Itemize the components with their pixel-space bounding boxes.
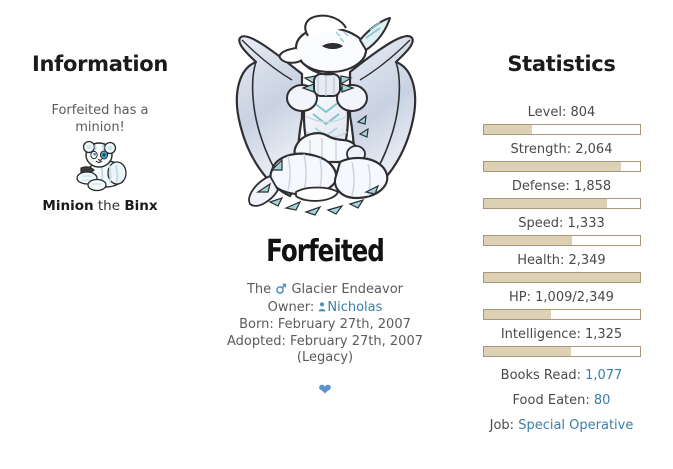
books-read-row: Books Read: 1,077: [450, 363, 673, 388]
heart-row: ❤: [200, 380, 450, 399]
stat-extras: Books Read: 1,077 Food Eaten: 80 Job: Sp…: [450, 363, 673, 438]
born-date: February 27th, 2007: [278, 317, 411, 332]
minion-plushie-icon[interactable]: [65, 140, 135, 192]
stat-label: Level: 804: [450, 104, 673, 122]
books-read-label: Books Read:: [501, 368, 581, 383]
books-read-value[interactable]: 1,077: [585, 368, 622, 383]
page-title: Forfeited: [223, 234, 428, 269]
food-eaten-value[interactable]: 80: [594, 393, 611, 408]
minion-name[interactable]: Minion: [42, 198, 93, 214]
stat-label: Defense: 1,858: [450, 178, 673, 196]
stat-row: Defense: 1,858: [450, 178, 673, 209]
job-label: Job:: [490, 418, 514, 433]
pet-born-line: Born: February 27th, 2007: [200, 317, 450, 334]
ice-dragon-pet-icon[interactable]: [210, 6, 440, 232]
stat-bar-track: [483, 124, 641, 135]
stat-row: Health: 2,349: [450, 252, 673, 283]
heart-icon[interactable]: ❤: [318, 382, 331, 398]
stat-bar-fill: [484, 236, 573, 245]
information-panel: Information Forfeited has a minion!: [0, 0, 200, 469]
stat-label: Speed: 1,333: [450, 215, 673, 233]
the-label: The: [247, 282, 271, 297]
stat-row: Level: 804: [450, 104, 673, 135]
stat-label: HP: 1,009/2,349: [450, 289, 673, 307]
minion-caption: Minion the Binx: [0, 198, 200, 214]
pet-color-species: Glacier Endeavor: [291, 282, 403, 297]
stat-bar-fill: [484, 162, 621, 171]
stat-label: Health: 2,349: [450, 252, 673, 270]
stat-bar-fill: [484, 125, 532, 134]
food-eaten-label: Food Eaten:: [513, 393, 590, 408]
stat-label: Strength: 2,064: [450, 141, 673, 159]
stat-bar-fill: [484, 273, 640, 282]
owner-label: Owner:: [268, 300, 315, 315]
stat-bar-list: Level: 804 Strength: 2,064 Defense: 1,85…: [450, 104, 673, 357]
minion-the-label: the: [98, 198, 120, 214]
stat-bar-track: [483, 161, 641, 172]
stat-bar-fill: [484, 310, 551, 319]
stat-row: Intelligence: 1,325: [450, 326, 673, 357]
statistics-panel: Statistics Level: 804 Strength: 2,064 De…: [450, 0, 673, 469]
information-heading: Information: [0, 52, 200, 76]
stat-bar-fill: [484, 347, 571, 356]
stat-label: Intelligence: 1,325: [450, 326, 673, 344]
adopted-label: Adopted:: [227, 334, 286, 349]
stat-bar-track: [483, 235, 641, 246]
adopted-date: February 27th, 2007: [290, 334, 423, 349]
pet-legacy-note: (Legacy): [200, 350, 450, 367]
stat-bar-track: [483, 272, 641, 283]
pet-owner-line: Owner: Nicholas: [200, 300, 450, 318]
pet-details: The Glacier Endeavor Owner:: [200, 282, 450, 367]
user-avatar-icon: [318, 301, 326, 318]
job-row: Job: Special Operative: [450, 413, 673, 438]
minion-species: Binx: [124, 198, 157, 214]
statistics-heading: Statistics: [450, 52, 673, 76]
pet-panel: Forfeited The Glacier Endeavor Owner:: [200, 0, 450, 469]
stat-bar-track: [483, 346, 641, 357]
stat-bar-track: [483, 309, 641, 320]
food-eaten-row: Food Eaten: 80: [450, 388, 673, 413]
pet-species-line: The Glacier Endeavor: [200, 282, 450, 300]
pet-profile-page: Information Forfeited has a minion!: [0, 0, 673, 469]
minion-note: Forfeited has a minion!: [0, 102, 200, 136]
stat-row: Strength: 2,064: [450, 141, 673, 172]
stat-bar-track: [483, 198, 641, 209]
pet-adopted-line: Adopted: February 27th, 2007: [200, 334, 450, 351]
stat-row: HP: 1,009/2,349: [450, 289, 673, 320]
stat-bar-fill: [484, 199, 607, 208]
job-value[interactable]: Special Operative: [518, 418, 633, 433]
born-label: Born:: [239, 317, 274, 332]
stat-row: Speed: 1,333: [450, 215, 673, 246]
owner-name-link[interactable]: Nicholas: [327, 300, 382, 315]
male-symbol-icon: [276, 283, 286, 300]
